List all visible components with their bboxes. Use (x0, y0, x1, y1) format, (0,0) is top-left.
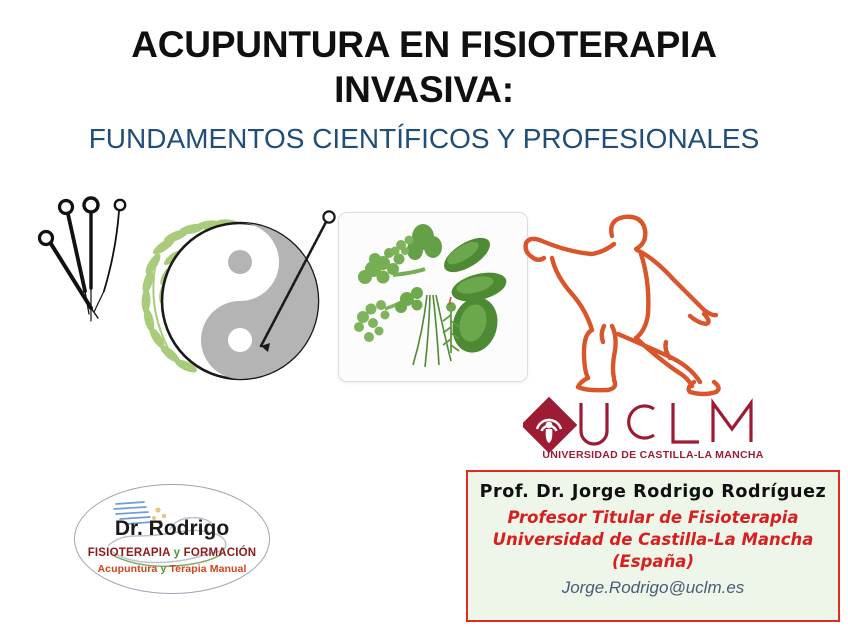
uclm-diamond-emblem-icon (523, 397, 577, 453)
logo-line2-part1: FISIOTERAPIA (88, 547, 170, 559)
logo-line2-part2: FORMACIÓN (184, 547, 257, 559)
herbs-photo (338, 212, 528, 382)
tai-chi-figure-icon (508, 210, 758, 400)
logo-name: Dr. Rodrigo (74, 517, 270, 541)
page-subtitle: FUNDAMENTOS CIENTÍFICOS Y PROFESIONALES (0, 121, 848, 157)
uclm-wordmark (581, 403, 751, 444)
page-title-line-2: INVASIVA: (0, 67, 848, 112)
title-block: ACUPUNTURA EN FISIOTERAPIA INVASIVA: FUN… (0, 22, 848, 157)
logo-line2-conjunction: y (174, 547, 181, 559)
yin-yang-icon (128, 206, 353, 396)
presenter-country: (España) (468, 551, 838, 573)
presentation-slide: ACUPUNTURA EN FISIOTERAPIA INVASIVA: FUN… (0, 0, 848, 636)
presenter-role: Profesor Titular de Fisioterapia (468, 507, 838, 529)
logo-line3-conjunction: y (160, 563, 166, 575)
presenter-email[interactable]: Jorge.Rodrigo@uclm.es (468, 576, 838, 600)
logo-line3-part1: Acupuntura (98, 563, 158, 575)
logo-line-3: Acupuntura y Terapia Manual (74, 563, 270, 575)
uclm-tagline: UNIVERSIDAD DE CASTILLA-LA MANCHA (523, 449, 783, 461)
dr-rodrigo-logo: Dr. Rodrigo FISIOTERAPIA y FORMACIÓN Acu… (74, 484, 270, 594)
logo-line3-part2: Terapia Manual (169, 563, 246, 575)
page-title-line-1: ACUPUNTURA EN FISIOTERAPIA (0, 22, 848, 67)
presenter-info-box: Prof. Dr. Jorge Rodrigo Rodríguez Profes… (466, 470, 840, 622)
logo-line-2: FISIOTERAPIA y FORMACIÓN (74, 547, 270, 559)
presenter-university: Universidad de Castilla-La Mancha (468, 529, 838, 551)
presenter-name: Prof. Dr. Jorge Rodrigo Rodríguez (468, 481, 838, 504)
